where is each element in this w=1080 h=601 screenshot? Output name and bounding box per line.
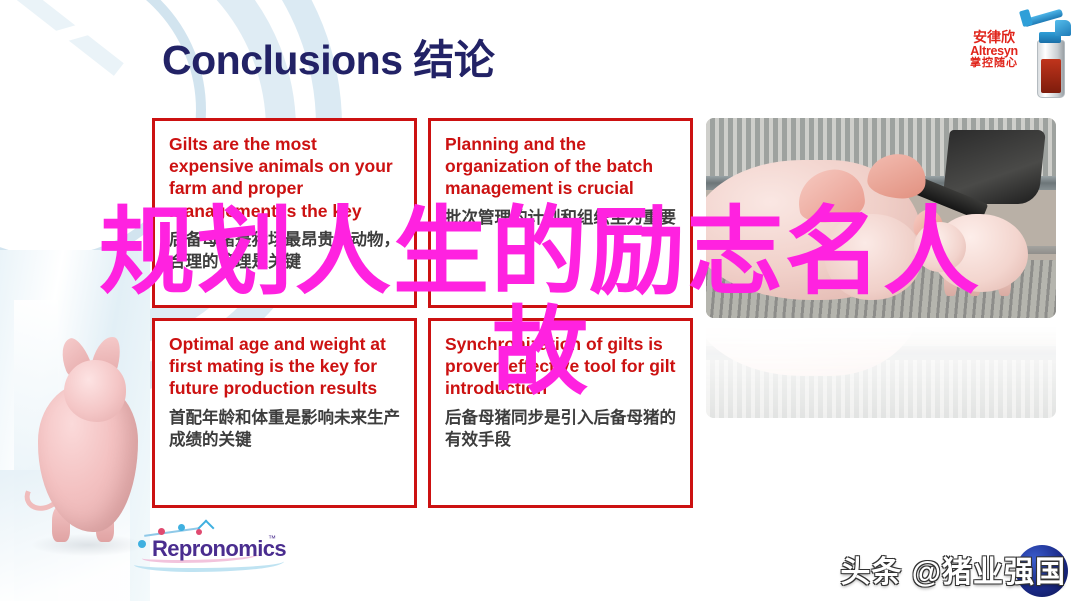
conclusion-box-1-english: Gilts are the most expensive animals on … xyxy=(169,133,400,222)
altresyn-bottle xyxy=(1037,40,1065,98)
conclusion-box-2-english: Planning and the organization of the bat… xyxy=(445,133,676,200)
repronomics-node-2-icon xyxy=(158,528,165,535)
repronomics-wordmark: Repronomics xyxy=(152,536,286,562)
conclusion-box-2-chinese: 批次管理的计划和组织至为重要 xyxy=(445,208,676,230)
toutiao-globe-icon xyxy=(1016,545,1068,597)
sow-head xyxy=(824,214,922,300)
altresyn-syringe-nozzle xyxy=(1055,20,1071,36)
altresyn-chinese-name: 安律欣 xyxy=(963,30,1025,45)
conclusion-box-4-english: Synchronization of gilts is proven effec… xyxy=(445,333,676,400)
conclusion-box-4-chinese: 后备母猪同步是引入后备母猪的有效手段 xyxy=(445,408,676,452)
altresyn-applicator-icon xyxy=(1021,10,1075,98)
conclusion-box-3: Optimal age and weight at first mating i… xyxy=(152,318,417,508)
pig-pen-photo-image xyxy=(706,118,1056,318)
altresyn-logo-text: 安律欣 Altresyn 掌控随心 xyxy=(963,30,1025,70)
altresyn-tagline: 掌控随心 xyxy=(963,58,1025,70)
repronomics-node-3-icon xyxy=(178,524,185,531)
conclusion-box-3-english: Optimal age and weight at first mating i… xyxy=(169,333,400,400)
pig-pen-photo-reflection-image xyxy=(706,318,1056,418)
pig-pen-photo-reflection xyxy=(706,318,1056,418)
pen-piglet-head xyxy=(914,222,966,272)
piglet-ear-right xyxy=(90,333,125,378)
conclusion-box-1: Gilts are the most expensive animals on … xyxy=(152,118,417,308)
repronomics-logo: Repronomics ™ xyxy=(128,524,288,570)
altresyn-liquid xyxy=(1041,59,1061,93)
conclusion-box-1-chinese: 后备母猪是猪场最昂贵的动物，合理的管理是关键 xyxy=(169,230,400,274)
altresyn-syringe-plunger xyxy=(1019,9,1033,27)
pig-pen-photo xyxy=(706,118,1056,418)
conclusion-box-2: Planning and the organization of the bat… xyxy=(428,118,693,308)
repronomics-node-1-icon xyxy=(138,540,146,548)
altresyn-logo: 安律欣 Altresyn 掌控随心 xyxy=(963,8,1075,100)
piglet-ear-left xyxy=(55,335,94,382)
arc-spoke-a xyxy=(0,0,124,76)
conclusion-box-4: Synchronization of gilts is proven effec… xyxy=(428,318,693,508)
page-title: Conclusions 结论 xyxy=(162,26,494,86)
conclusion-box-3-chinese: 首配年龄和体重是影响未来生产成绩的关键 xyxy=(169,408,400,452)
background-strip-b xyxy=(0,470,130,601)
arc-spoke-b xyxy=(0,9,137,85)
piglet-head xyxy=(64,360,126,422)
presentation-slide: Conclusions 结论 Gilts are the most expens… xyxy=(0,0,1080,601)
reflection-piglet-body xyxy=(932,318,1028,322)
repronomics-trademark-symbol: ™ xyxy=(268,534,276,543)
